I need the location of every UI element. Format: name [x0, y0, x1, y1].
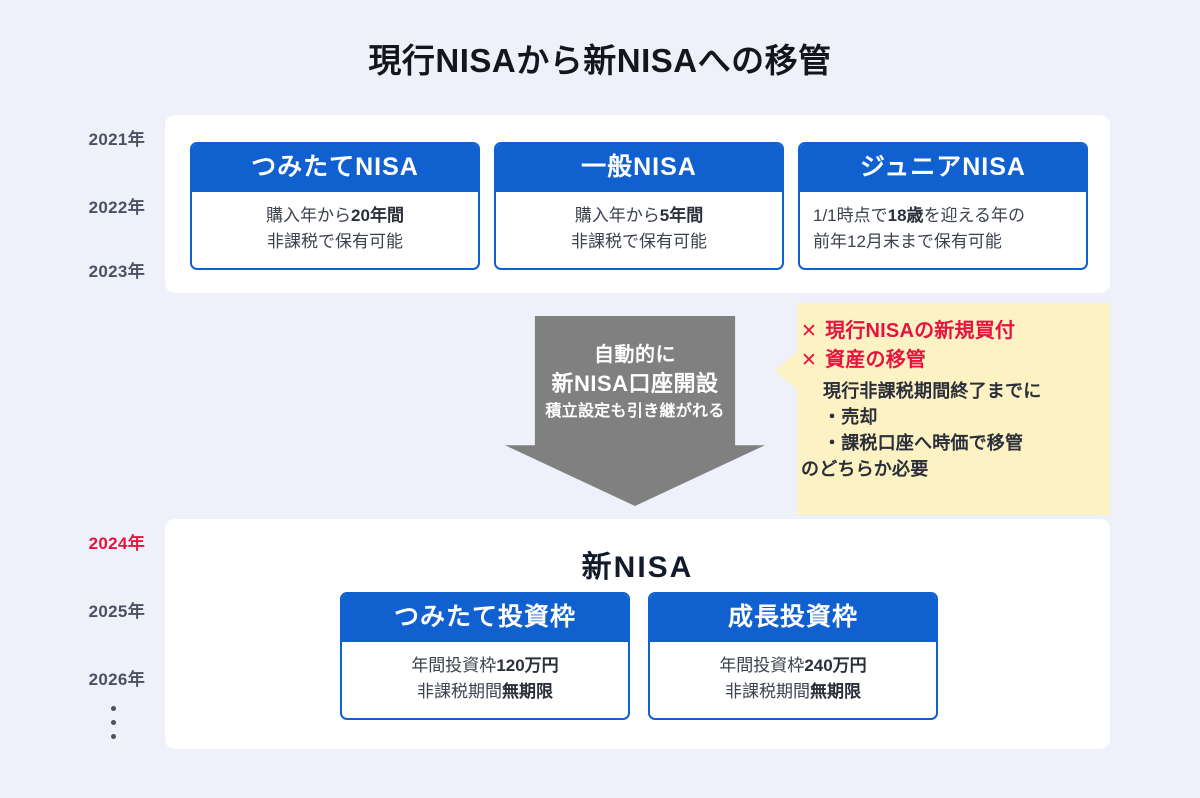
body-text: 購入年から [266, 206, 351, 225]
card-body-line: 1/1時点で18歳を迎える年の [813, 203, 1074, 229]
body-text: 購入年から [575, 206, 660, 225]
card-title-tsumitate-toushiwaku: つみたて投資枠 [342, 594, 628, 642]
emphasis-text: 無期限 [502, 682, 553, 701]
new-nisa-heading: 新NISA [165, 542, 1110, 586]
cross-mark-icon: ✕ [801, 347, 817, 375]
warning-note: 現行非課税期間終了までに・売却・課税口座へ時価で移管のどちらか必要 [801, 378, 1096, 482]
emphasis-text: 20年間 [351, 206, 404, 225]
warning-note-line: のどちらか必要 [801, 456, 1096, 482]
warning-note-line: ・課税口座へ時価で移管 [823, 430, 1096, 456]
infographic-canvas: 現行NISAから新NISAへの移管 自動的に 新NISA口座開設 積立設定も引き… [0, 0, 1200, 798]
card-seichou-toushiwaku: 成長投資枠年間投資枠240万円非課税期間無期限 [648, 592, 938, 720]
dot [111, 720, 116, 725]
card-body-line: 年間投資枠120万円 [354, 653, 616, 679]
card-junior-nisa: ジュニアNISA1/1時点で18歳を迎える年の前年12月末まで保有可能 [798, 142, 1088, 270]
body-text: 前年12月末まで保有可能 [813, 232, 1002, 251]
body-text: 1/1時点で [813, 206, 888, 225]
timeline-year-2022: 2022年 [25, 193, 145, 218]
dot [111, 734, 116, 739]
body-text: を迎える年の [924, 206, 1026, 225]
card-ippan-nisa: 一般NISA購入年から5年間非課税で保有可能 [494, 142, 784, 270]
timeline-year-2024: 2024年 [25, 529, 145, 554]
card-body-line: 年間投資枠240万円 [662, 653, 924, 679]
warning-denied-item: ✕現行NISAの新規買付 [801, 317, 1096, 346]
card-body-line: 非課税で保有可能 [508, 229, 770, 255]
card-body-line: 非課税期間無期限 [354, 679, 616, 705]
card-title-tsumitate-nisa: つみたてNISA [192, 144, 478, 192]
card-body-line: 前年12月末まで保有可能 [813, 229, 1074, 255]
timeline-continuation-dots [111, 706, 116, 739]
card-body-line: 非課税期間無期限 [662, 679, 924, 705]
card-body-line: 非課税で保有可能 [204, 229, 466, 255]
warning-denied-list: ✕現行NISAの新規買付✕資産の移管 [801, 317, 1096, 375]
card-body-tsumitate-nisa: 購入年から20年間非課税で保有可能 [192, 192, 478, 268]
warning-callout: ✕現行NISAの新規買付✕資産の移管 現行非課税期間終了までに・売却・課税口座へ… [775, 303, 1110, 515]
card-title-ippan-nisa: 一般NISA [496, 144, 782, 192]
emphasis-text: 18歳 [888, 206, 924, 225]
body-text: 非課税期間 [725, 682, 810, 701]
arrow-line-1: 自動的に [505, 342, 765, 369]
auto-transition-arrow: 自動的に 新NISA口座開設 積立設定も引き継がれる [505, 316, 765, 506]
body-text: 非課税で保有可能 [267, 232, 403, 251]
card-body-line: 購入年から5年間 [508, 203, 770, 229]
card-body-ippan-nisa: 購入年から5年間非課税で保有可能 [496, 192, 782, 268]
card-body-line: 購入年から20年間 [204, 203, 466, 229]
emphasis-text: 無期限 [810, 682, 861, 701]
warning-denied-label: 現行NISAの新規買付 [825, 317, 1015, 346]
arrow-line-3: 積立設定も引き継がれる [505, 399, 765, 425]
body-text: 年間投資枠 [719, 656, 804, 675]
warning-denied-item: ✕資産の移管 [801, 346, 1096, 375]
timeline-year-2025: 2025年 [25, 597, 145, 622]
timeline-year-2026: 2026年 [25, 665, 145, 690]
card-title-junior-nisa: ジュニアNISA [800, 144, 1086, 192]
arrow-line-2: 新NISA口座開設 [505, 369, 765, 399]
card-body-seichou-toushiwaku: 年間投資枠240万円非課税期間無期限 [650, 642, 936, 718]
warning-note-line: 現行非課税期間終了までに [823, 378, 1096, 404]
timeline-year-2021: 2021年 [25, 125, 145, 150]
body-text: 年間投資枠 [411, 656, 496, 675]
card-body-junior-nisa: 1/1時点で18歳を迎える年の前年12月末まで保有可能 [800, 192, 1086, 268]
warning-note-line: ・売却 [823, 404, 1096, 430]
body-text: 非課税で保有可能 [571, 232, 707, 251]
emphasis-text: 240万円 [804, 656, 866, 675]
dot [111, 706, 116, 711]
timeline-year-2023: 2023年 [25, 257, 145, 282]
emphasis-text: 5年間 [660, 206, 703, 225]
body-text: 非課税期間 [417, 682, 502, 701]
card-tsumitate-nisa: つみたてNISA購入年から20年間非課税で保有可能 [190, 142, 480, 270]
card-body-tsumitate-toushiwaku: 年間投資枠120万円非課税期間無期限 [342, 642, 628, 718]
card-title-seichou-toushiwaku: 成長投資枠 [650, 594, 936, 642]
emphasis-text: 120万円 [496, 656, 558, 675]
warning-denied-label: 資産の移管 [825, 346, 926, 375]
cross-mark-icon: ✕ [801, 318, 817, 346]
page-title: 現行NISAから新NISAへの移管 [0, 34, 1200, 82]
card-tsumitate-toushiwaku: つみたて投資枠年間投資枠120万円非課税期間無期限 [340, 592, 630, 720]
